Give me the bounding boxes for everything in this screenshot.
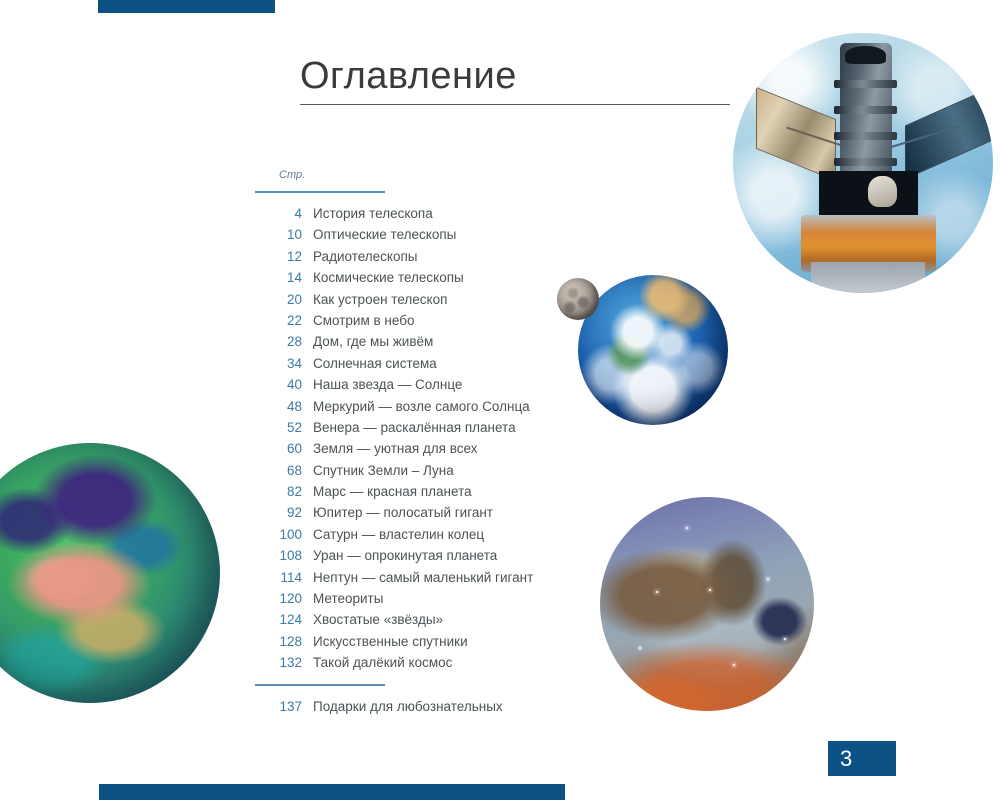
- hubble-ring-1: [834, 80, 896, 88]
- toc-entry[interactable]: 108Уран — опрокинутая планета: [255, 548, 585, 569]
- toc-entry[interactable]: 34Солнечная система: [255, 356, 585, 377]
- toc-entry-title: Наша звезда — Солнце: [313, 377, 462, 392]
- toc-entry-page-number: 34: [255, 356, 302, 371]
- toc-entry[interactable]: 12Радиотелескопы: [255, 249, 585, 270]
- toc-bottom-divider: [255, 684, 385, 686]
- toc-entry-page-number: 124: [255, 612, 302, 627]
- toc-entry-page-number: 20: [255, 292, 302, 307]
- toc-entry[interactable]: 92Юпитер — полосатый гигант: [255, 505, 585, 526]
- toc-entry-title: Оптические телескопы: [313, 227, 456, 242]
- page-number-badge: 3: [828, 741, 896, 776]
- top-accent-bar: [98, 0, 275, 13]
- hubble-ring-4: [834, 158, 896, 166]
- toc-entry-title: Как устроен телескоп: [313, 292, 447, 307]
- bottom-accent-bar: [99, 784, 565, 800]
- toc-entry-title: Юпитер — полосатый гигант: [313, 505, 493, 520]
- hubble-space-telescope-photo: [733, 33, 993, 293]
- hubble-ring-3: [834, 132, 896, 140]
- toc-list: 4История телескопа10Оптические телескопы…: [255, 206, 585, 677]
- star-dot: [656, 591, 658, 593]
- title-divider: [300, 104, 730, 105]
- toc-entry-page-number: 100: [255, 527, 302, 542]
- toc-entry-title: Уран — опрокинутая планета: [313, 548, 497, 563]
- toc-entry-title: Такой далёкий космос: [313, 655, 452, 670]
- toc-entry[interactable]: 28Дом, где мы живём: [255, 334, 585, 355]
- toc-entry[interactable]: 10Оптические телескопы: [255, 227, 585, 248]
- toc-entry-page-number: 82: [255, 484, 302, 499]
- toc-entry[interactable]: 100Сатурн — властелин колец: [255, 527, 585, 548]
- toc-entry-page-number: 68: [255, 463, 302, 478]
- toc-entry[interactable]: 137Подарки для любознательных: [255, 699, 595, 720]
- toc-entry[interactable]: 120Метеориты: [255, 591, 585, 612]
- star-dot: [733, 664, 735, 666]
- toc-entry[interactable]: 40Наша звезда — Солнце: [255, 377, 585, 398]
- toc-entry-title: Смотрим в небо: [313, 313, 414, 328]
- toc-entry-title: Нептун — самый маленький гигант: [313, 570, 533, 585]
- astronaut-figure: [868, 176, 897, 207]
- toc-entry[interactable]: 52Венера — раскалённая планета: [255, 420, 585, 441]
- toc-entry-title: Космические телескопы: [313, 270, 464, 285]
- star-dot: [639, 647, 641, 649]
- toc-entry-page-number: 12: [255, 249, 302, 264]
- toc-entry-page-number: 28: [255, 334, 302, 349]
- toc-entry[interactable]: 4История телескопа: [255, 206, 585, 227]
- toc-entry-title: Венера — раскалённая планета: [313, 420, 516, 435]
- toc-entry-page-number: 92: [255, 505, 302, 520]
- page-number-value: 3: [840, 746, 852, 772]
- toc-entry-title: Спутник Земли – Луна: [313, 463, 454, 478]
- toc-entry-page-number: 40: [255, 377, 302, 392]
- star-dot: [686, 527, 688, 529]
- star-dot: [784, 638, 786, 640]
- toc-entry-page-number: 137: [255, 699, 302, 714]
- toc-entry[interactable]: 128Искусственные спутники: [255, 634, 585, 655]
- toc-entry-page-number: 10: [255, 227, 302, 242]
- hubble-solar-panel-right: [905, 86, 993, 179]
- toc-entry-page-number: 120: [255, 591, 302, 606]
- toc-entry-title: Искусственные спутники: [313, 634, 468, 649]
- toc-entry-title: Марс — красная планета: [313, 484, 472, 499]
- earth-globe-photo: [578, 275, 728, 425]
- toc-entry-page-number: 132: [255, 655, 302, 670]
- toc-entry-page-number: 14: [255, 270, 302, 285]
- toc-entry-title: Дом, где мы живём: [313, 334, 433, 349]
- toc-entry[interactable]: 132Такой далёкий космос: [255, 655, 585, 676]
- toc-entry[interactable]: 48Меркурий — возле самого Солнца: [255, 399, 585, 420]
- toc-entry-page-number: 128: [255, 634, 302, 649]
- toc-entry-title: История телескопа: [313, 206, 433, 221]
- nebula-photo: [600, 497, 814, 711]
- toc-entry[interactable]: 22Смотрим в небо: [255, 313, 585, 334]
- page-column-label: Стр.: [279, 169, 305, 181]
- toc-entry[interactable]: 20Как устроен телескоп: [255, 292, 585, 313]
- toc-entry[interactable]: 14Космические телескопы: [255, 270, 585, 291]
- toc-entry-page-number: 114: [255, 570, 302, 585]
- toc-entry-title: Меркурий — возле самого Солнца: [313, 399, 530, 414]
- toc-top-divider: [255, 191, 385, 193]
- toc-entry-page-number: 108: [255, 548, 302, 563]
- toc-entry[interactable]: 124Хвостатые «звёзды»: [255, 612, 585, 633]
- star-dot: [709, 589, 711, 591]
- toc-entry-title: Хвостатые «звёзды»: [313, 612, 443, 627]
- toc-entry-page-number: 22: [255, 313, 302, 328]
- toc-entry[interactable]: 82Марс — красная планета: [255, 484, 585, 505]
- toc-entry-title: Метеориты: [313, 591, 383, 606]
- star-dot: [767, 578, 769, 580]
- toc-entry-page-number: 52: [255, 420, 302, 435]
- hubble-aperture: [845, 46, 887, 64]
- toc-entry-title: Земля — уютная для всех: [313, 441, 477, 456]
- page-title: Оглавление: [300, 55, 517, 98]
- toc-entry[interactable]: 60Земля — уютная для всех: [255, 441, 585, 462]
- hubble-solar-panel-left: [756, 87, 836, 181]
- moon-photo: [557, 278, 599, 320]
- toc-entry-title: Солнечная система: [313, 356, 437, 371]
- book-contents-page: Оглавление Стр. 4История телескопа10Опти…: [0, 0, 1000, 800]
- toc-entry[interactable]: 114Нептун — самый маленький гигант: [255, 570, 585, 591]
- hubble-lower-structure: [811, 262, 925, 293]
- toc-entry-title: Сатурн — властелин колец: [313, 527, 484, 542]
- toc-entry-title: Подарки для любознательных: [313, 699, 503, 714]
- toc-entry-page-number: 4: [255, 206, 302, 221]
- toc-entry[interactable]: 68Спутник Земли – Луна: [255, 463, 585, 484]
- hubble-ring-2: [834, 106, 896, 114]
- toc-entry-page-number: 60: [255, 441, 302, 456]
- toc-entry-title: Радиотелескопы: [313, 249, 418, 264]
- toc-entry-page-number: 48: [255, 399, 302, 414]
- toc-extra-list: 137Подарки для любознательных: [255, 699, 595, 720]
- venus-radar-map-photo: [0, 443, 220, 703]
